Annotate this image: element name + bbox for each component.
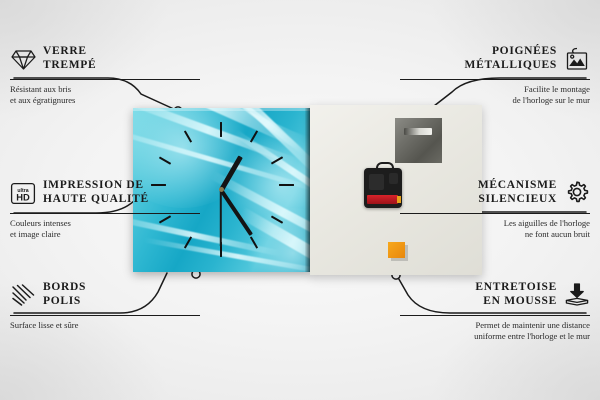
clock-hour-hand [219,155,242,191]
hanger-slot [404,128,432,135]
picture-frame-hook-icon [564,46,590,72]
feature-divider [10,213,200,214]
feature-verre-trempe: VERRETREMPÉ Résistant aux bris et aux ég… [10,42,200,107]
polished-edges-icon [10,282,36,308]
feature-header: ENTRETOISEEN MOUSSE [400,278,590,312]
feature-header: POIGNÉESMÉTALLIQUES [400,42,590,76]
feature-divider [10,79,200,80]
feature-title: POIGNÉESMÉTALLIQUES [465,45,557,72]
tick-3 [279,184,294,186]
clock-mechanism-box [364,168,402,208]
tick-1 [250,130,258,142]
feature-divider [10,315,200,316]
feature-description: Surface lisse et sûre [10,320,200,331]
gear-icon [564,180,590,206]
tick-5 [250,236,258,248]
feature-title: BORDSPOLIS [43,281,86,308]
feature-poignees-metalliques: POIGNÉESMÉTALLIQUES Facilite le montage … [400,42,590,107]
feature-description: Facilite le montage de l'horloge sur le … [400,84,590,107]
svg-text:HD: HD [16,191,30,202]
mechanism-hanging-loop [376,162,394,172]
feature-bords-polis: BORDSPOLIS Surface lisse et sûre [10,278,200,331]
feature-divider [400,79,590,80]
feature-divider [400,315,590,316]
diamond-icon [10,46,36,72]
feature-title: VERRETREMPÉ [43,45,96,72]
ultra-hd-icon: ultra HD [10,180,36,206]
tick-10 [159,156,171,164]
feature-entretoise-en-mousse: ENTRETOISEEN MOUSSE Permet de maintenir … [400,278,590,343]
clock-second-hand [220,190,222,247]
clock-minute-hand [219,189,253,236]
mechanism-panel-left [369,174,384,190]
foam-spacer [388,242,405,258]
feature-title: IMPRESSION DEHAUTE QUALITÉ [43,179,149,206]
feature-mecanisme-silencieux: MÉCANISMESILENCIEUX Les aiguilles de l'h… [400,176,590,241]
tick-4 [271,215,283,223]
feature-description: Permet de maintenir une distance uniform… [400,320,590,343]
mechanism-panel-right [389,173,398,184]
tick-12 [220,122,222,137]
feature-header: BORDSPOLIS [10,278,200,312]
feature-description: Les aiguilles de l'horloge ne font aucun… [400,218,590,241]
tick-11 [184,130,192,142]
foam-spacer-arrow-icon [564,282,590,308]
feature-header: MÉCANISMESILENCIEUX [400,176,590,210]
feature-divider [400,213,590,214]
clock-center-cap [219,187,224,192]
feature-description: Résistant aux bris et aux égratignures [10,84,200,107]
feature-header: ultra HD IMPRESSION DEHAUTE QUALITÉ [10,176,200,210]
feature-header: VERRETREMPÉ [10,42,200,76]
metal-hanger-plate [395,118,442,163]
feature-impression-haute-qualite: ultra HD IMPRESSION DEHAUTE QUALITÉ Coul… [10,176,200,241]
feature-title: ENTRETOISEEN MOUSSE [475,281,557,308]
feature-description: Couleurs intenses et image claire [10,218,200,241]
product-infographic: VERRETREMPÉ Résistant aux bris et aux ég… [0,0,600,400]
feature-title: MÉCANISMESILENCIEUX [478,179,557,206]
tick-2 [271,156,283,164]
battery [367,195,398,204]
